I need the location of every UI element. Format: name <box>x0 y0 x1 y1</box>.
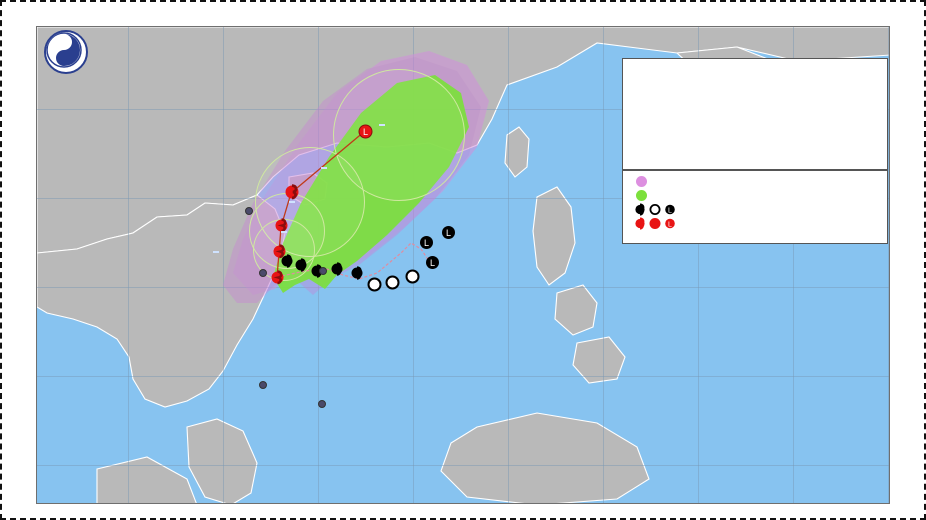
svg-text:L: L <box>668 221 672 228</box>
track-label-14-06 <box>321 167 327 169</box>
map-legend: L L <box>622 170 888 244</box>
city-dot-truong-sa <box>318 400 326 408</box>
storm-info-panel <box>622 58 888 170</box>
latitude-axis-right <box>890 26 926 504</box>
city-dot-da-nang <box>259 269 267 277</box>
past-position-marker[interactable]: L <box>419 235 433 249</box>
forecast-position-marker-13-06-07h[interactable] <box>271 243 285 257</box>
forecast-position-marker-13-06-19h[interactable] <box>273 217 287 231</box>
svg-text:L: L <box>446 228 451 238</box>
past-position-marker[interactable] <box>385 275 399 289</box>
nchmf-logo-icon <box>44 30 88 74</box>
forecast-position-marker-14-06-19h[interactable] <box>283 183 297 197</box>
weather-map-screenshot: L L L <box>0 0 926 520</box>
past-position-marker[interactable]: L <box>441 225 455 239</box>
past-position-marker[interactable]: L <box>425 255 439 269</box>
city-dot-ha-noi <box>245 207 253 215</box>
past-position-marker[interactable] <box>367 277 381 291</box>
svg-text:L: L <box>424 238 429 248</box>
track-label-13-06-07h <box>281 231 287 233</box>
past-position-marker[interactable] <box>349 265 363 279</box>
black-storm-symbols-icon: L <box>633 203 687 216</box>
city-dot-hoang-sa <box>319 267 327 275</box>
track-label-12-06 <box>213 251 219 253</box>
svg-text:L: L <box>363 127 368 137</box>
violet-dot-icon <box>633 176 687 187</box>
longitude-axis-top <box>36 6 890 26</box>
past-position-marker[interactable] <box>405 269 419 283</box>
legend-item-current-forecast-positions: L <box>623 216 887 230</box>
red-storm-symbols-icon: L <box>633 217 687 230</box>
legend-item-cone-zone <box>623 188 887 202</box>
agency-logo-block <box>44 30 94 74</box>
past-position-marker[interactable] <box>293 257 307 271</box>
past-position-marker[interactable] <box>329 261 343 275</box>
svg-text:L: L <box>430 258 435 268</box>
legend-item-wind-zone <box>623 174 887 188</box>
city-dot-tp-hcm <box>259 381 267 389</box>
svg-text:L: L <box>668 207 672 214</box>
forecast-position-marker-12-06-19h[interactable] <box>269 269 283 283</box>
latitude-axis-left <box>0 26 36 504</box>
green-dot-icon <box>633 190 687 201</box>
longitude-axis-bottom <box>36 504 890 518</box>
forecast-position-marker-15-06-19h[interactable]: L <box>358 124 372 138</box>
track-label-15-06 <box>379 124 385 126</box>
track-label-13-06-19h <box>289 201 295 203</box>
legend-item-past-positions: L <box>623 202 887 216</box>
